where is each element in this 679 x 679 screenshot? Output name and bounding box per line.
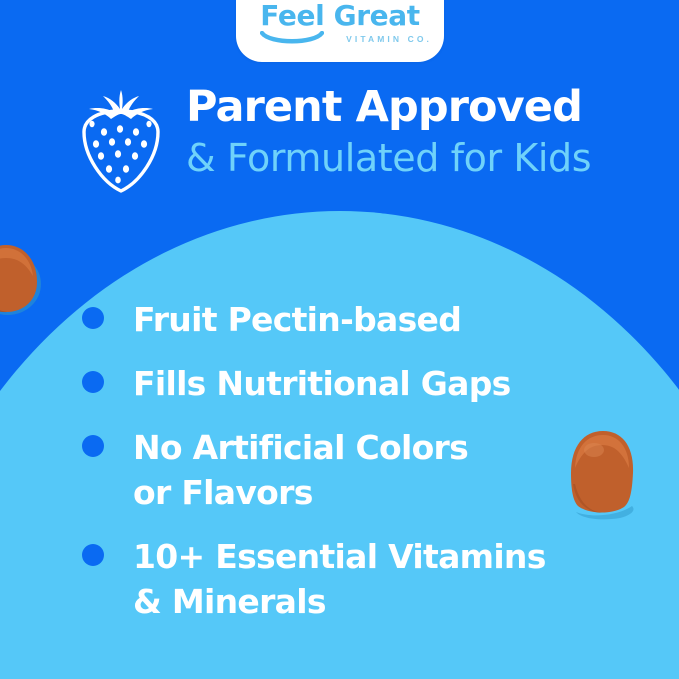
strawberry-icon bbox=[68, 84, 174, 196]
feature-label: Fills Nutritional Gaps bbox=[133, 361, 511, 406]
list-item: No Artificial Colors or Flavors bbox=[82, 425, 642, 515]
bullet-dot-icon bbox=[82, 544, 104, 566]
bullet-dot-icon bbox=[82, 435, 104, 457]
gummy-candy-left-icon bbox=[0, 236, 48, 320]
brand-subtitle: VITAMIN CO. bbox=[346, 34, 432, 44]
brand-logo-card: Feel Great VITAMIN CO. bbox=[236, 0, 444, 62]
bullet-dot-icon bbox=[82, 371, 104, 393]
headline-primary: Parent Approved bbox=[186, 83, 656, 132]
feature-label: No Artificial Colors or Flavors bbox=[133, 425, 468, 515]
brand-wordmark: Feel Great bbox=[236, 1, 444, 31]
product-feature-poster: Feel Great VITAMIN CO. bbox=[0, 0, 679, 679]
headline-secondary: & Formulated for Kids bbox=[186, 134, 656, 183]
feature-label: 10+ Essential Vitamins & Minerals bbox=[133, 534, 546, 624]
list-item: 10+ Essential Vitamins & Minerals bbox=[82, 534, 642, 624]
smile-swoosh-icon bbox=[260, 31, 324, 45]
gummy-candy-right-icon bbox=[560, 426, 644, 520]
feature-label: Fruit Pectin-based bbox=[133, 297, 461, 342]
list-item: Fills Nutritional Gaps bbox=[82, 361, 642, 406]
headline-block: Parent Approved & Formulated for Kids bbox=[186, 83, 656, 183]
bullet-dot-icon bbox=[82, 307, 104, 329]
feature-list: Fruit Pectin-based Fills Nutritional Gap… bbox=[82, 297, 642, 643]
brand-logo-inner: Feel Great VITAMIN CO. bbox=[236, 0, 444, 62]
list-item: Fruit Pectin-based bbox=[82, 297, 642, 342]
